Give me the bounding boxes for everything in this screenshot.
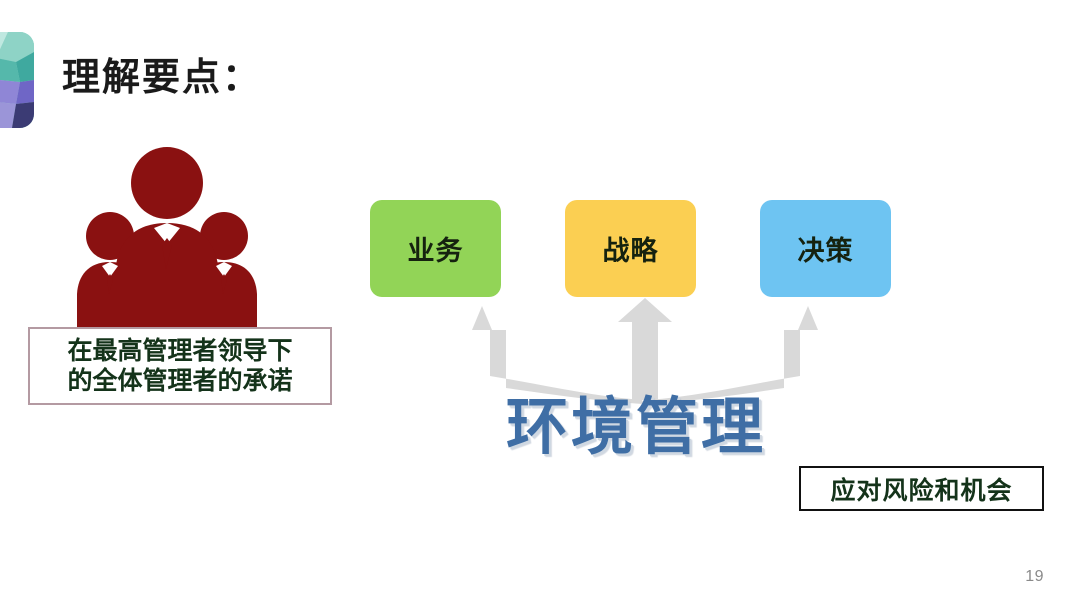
environmental-management-headline: 环境管理 xyxy=(506,393,766,462)
commitment-note-line-2: 的全体管理者的承诺 xyxy=(67,366,292,397)
card-business[interactable]: 业务 xyxy=(370,200,501,297)
three-upward-arrows xyxy=(420,296,870,404)
risk-opportunity-box: 应对风险和机会 xyxy=(799,466,1044,511)
card-decision[interactable]: 决策 xyxy=(760,200,891,297)
three-business-people-icon xyxy=(74,140,260,328)
risk-opportunity-text: 应对风险和机会 xyxy=(830,471,1012,507)
faceted-gem-logo xyxy=(0,32,34,128)
commitment-note-line-1: 在最高管理者领导下 xyxy=(67,336,292,367)
page-number: 19 xyxy=(1025,568,1044,586)
page-title: 理解要点： xyxy=(62,58,262,100)
commitment-note-box: 在最高管理者领导下 的全体管理者的承诺 xyxy=(28,327,332,405)
slide-canvas: 理解要点： xyxy=(0,0,1080,608)
commitment-note-text: 在最高管理者领导下 的全体管理者的承诺 xyxy=(61,336,298,397)
card-strategy[interactable]: 战略 xyxy=(565,200,696,297)
